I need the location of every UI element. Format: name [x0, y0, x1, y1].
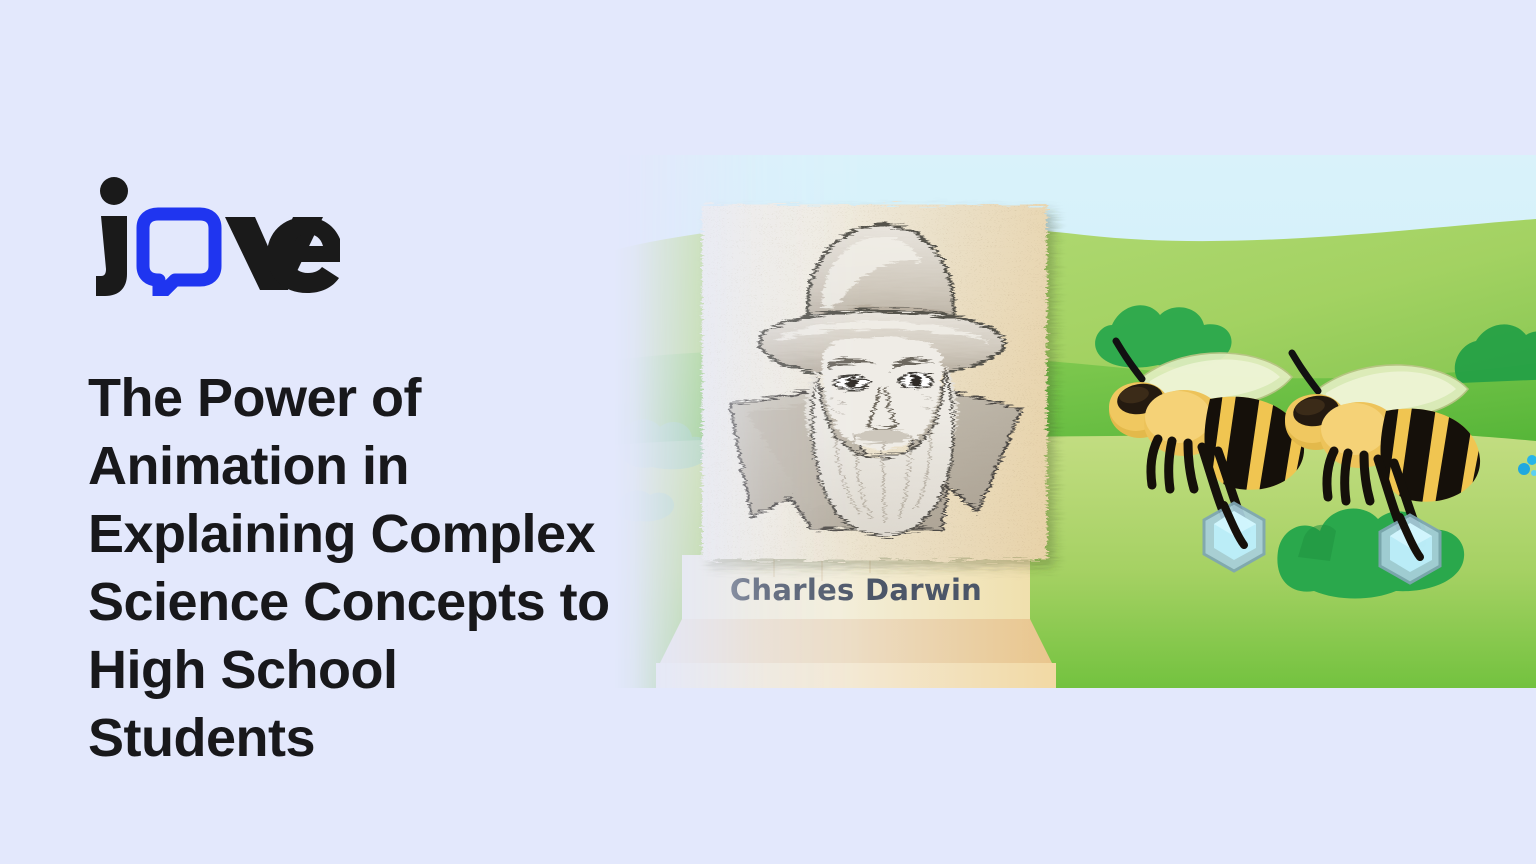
slide-canvas: The Power of Animation in Explaining Com…: [0, 0, 1536, 864]
pedestal-base: [656, 663, 1056, 688]
bee-right-honeycomb: [1380, 515, 1440, 583]
pedestal-name-label: Charles Darwin: [654, 573, 1058, 607]
logo-j-dot: [100, 177, 128, 205]
jove-logo-mark: [88, 176, 340, 296]
logo-j-stem: [96, 216, 127, 296]
jove-logo[interactable]: [88, 176, 340, 296]
logo-e: [267, 217, 340, 293]
logo-speech-bubble-icon: [143, 214, 215, 296]
darwin-portrait-sketch: [716, 211, 1034, 551]
illustration-panel: Charles Darwin: [614, 155, 1536, 688]
page-title: The Power of Animation in Explaining Com…: [88, 364, 628, 772]
bee-left-honeycomb: [1204, 503, 1264, 571]
pedestal-bevel: [660, 619, 1052, 663]
darwin-portrait-card: [702, 205, 1047, 560]
brand-block: [88, 176, 608, 296]
